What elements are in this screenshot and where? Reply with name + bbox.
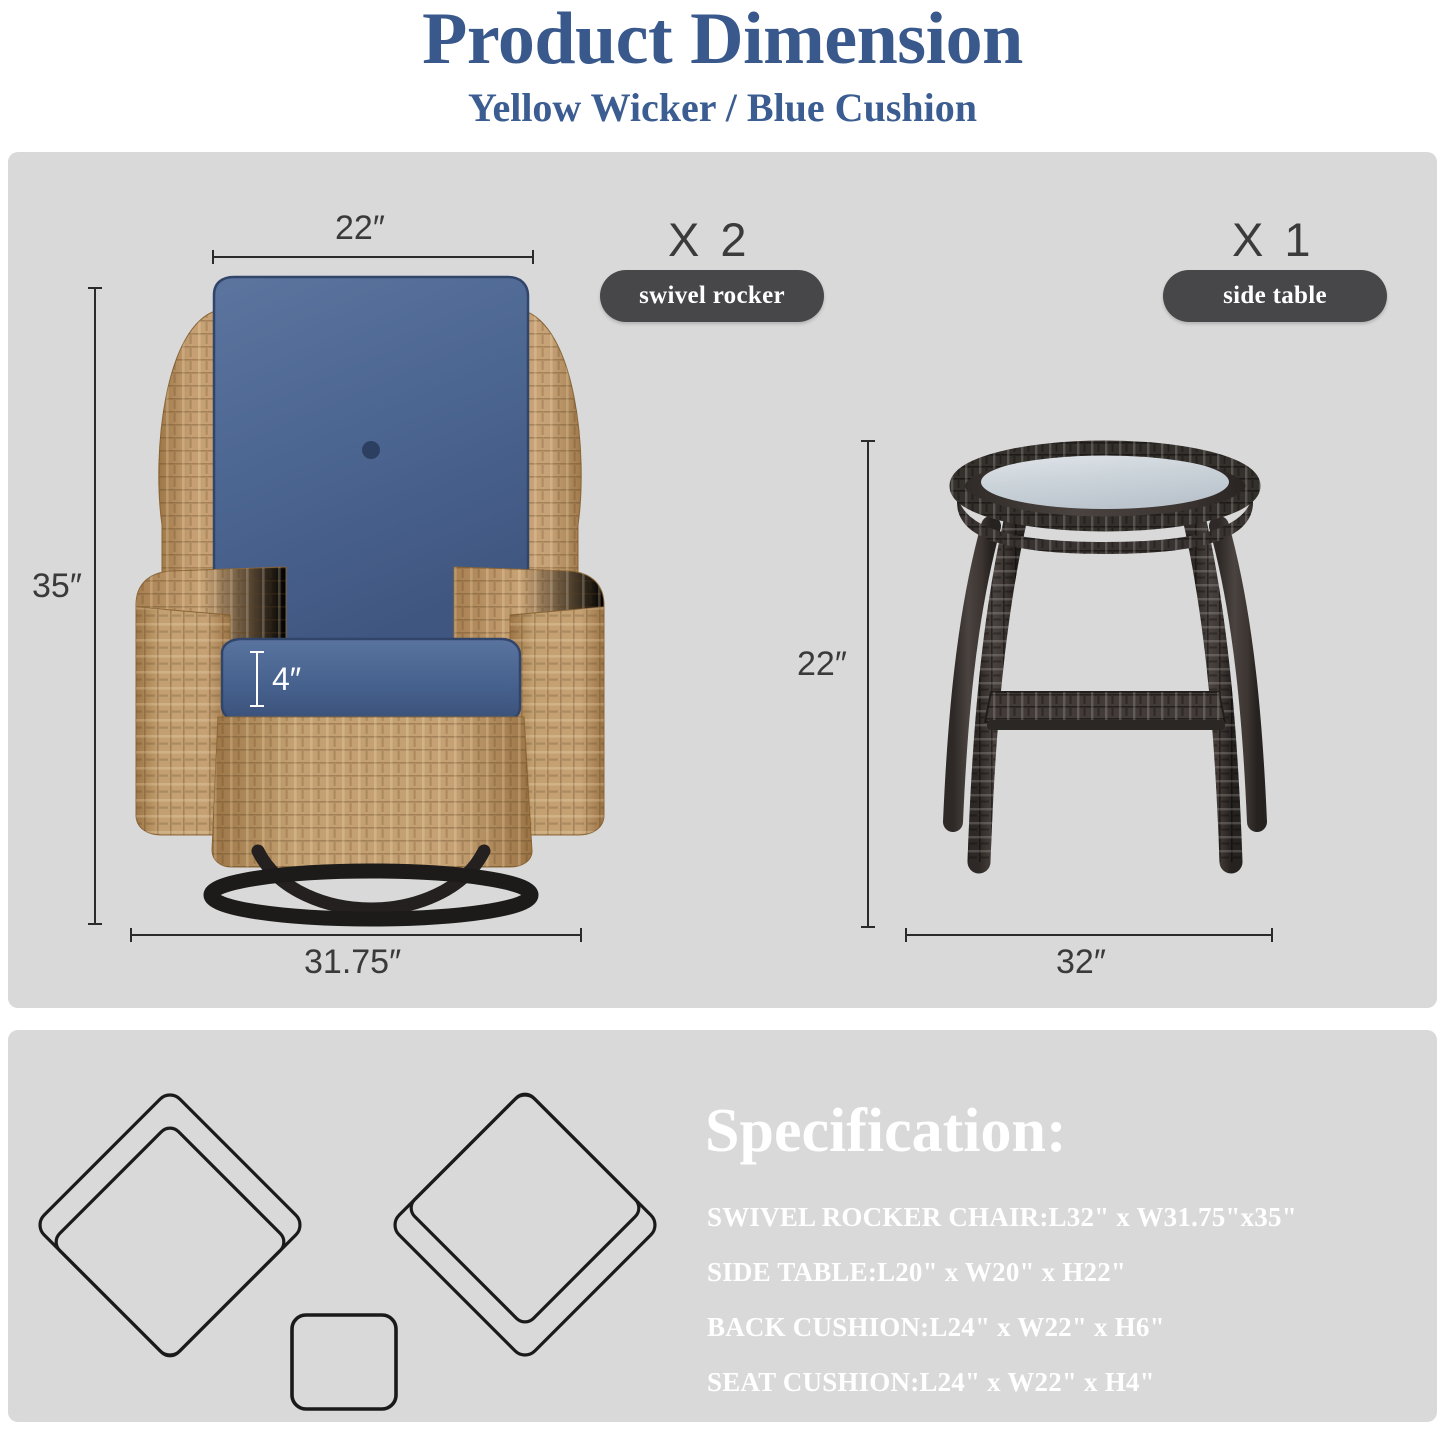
dimension-label-chair-width: 31.75″ [304,943,401,982]
dimension-line-table-height [861,440,875,928]
dimension-line-seat-thickness [250,651,264,707]
dimension-line-table-width [905,928,1273,942]
table-carton [292,1315,396,1409]
swivel-rocker-illustration [118,255,678,955]
dimension-label-seat-thickness: 4″ [272,661,301,698]
dimension-line-cushion-width [212,250,534,264]
spec-line-swivel-rocker-chair: SWIVEL ROCKER CHAIR:L32" x W31.75"x35" [707,1202,1297,1233]
page-subtitle: Yellow Wicker / Blue Cushion [0,76,1445,128]
swivel-rocker-badge-label: swivel rocker [639,282,785,310]
page-title: Product Dimension [0,0,1445,76]
swivel-rocker-badge: swivel rocker [600,270,824,322]
side-table-count: X 1 [1232,212,1315,267]
dimension-label-table-height: 22″ [797,645,847,684]
dimension-label-table-width: 32″ [1056,943,1106,982]
dimension-line-chair-width [130,928,582,942]
side-table-badge-label: side table [1223,282,1327,310]
side-table-illustration [895,430,1315,950]
specification-heading: Specification: [705,1100,1067,1162]
dimension-label-cushion-width: 22″ [335,209,385,248]
swivel-rocker-count: X 2 [668,212,751,267]
page-header: Product Dimension Yellow Wicker / Blue C… [0,0,1445,140]
spec-line-back-cushion: BACK CUSHION:L24" x W22" x H6" [707,1312,1165,1343]
chair-carton-left [34,1089,306,1361]
dimension-label-chair-height: 35″ [32,567,82,606]
spec-line-seat-cushion: SEAT CUSHION:L24" x W22" x H4" [707,1367,1155,1398]
chair-carton-right [389,1089,661,1361]
dimension-line-chair-height [88,287,102,925]
spec-line-side-table: SIDE TABLE:L20" x W20" x H22" [707,1257,1126,1288]
side-table-badge: side table [1163,270,1387,322]
carton-diagram [30,1085,690,1415]
